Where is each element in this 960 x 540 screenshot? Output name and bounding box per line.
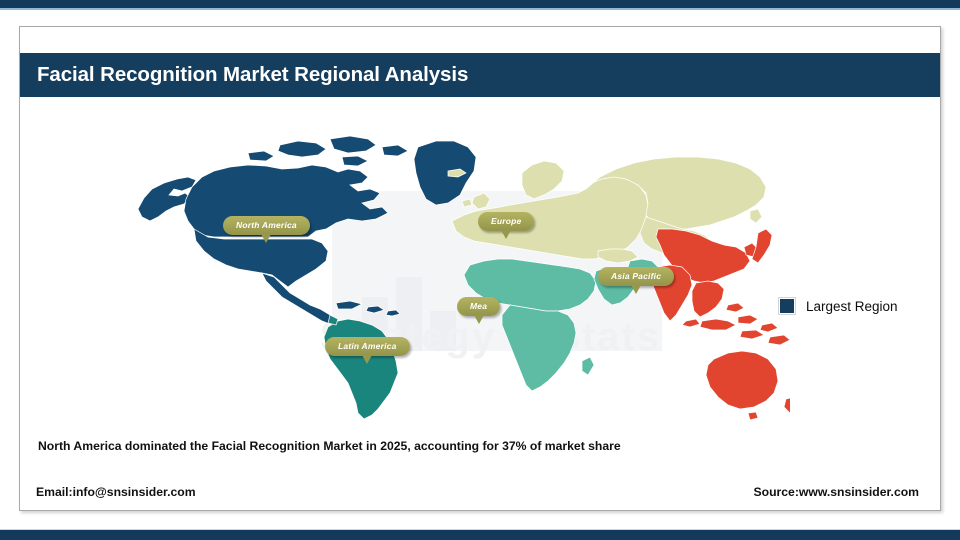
email-text[interactable]: Email:info@snsinsider.com	[36, 485, 196, 499]
legend-label-largest-region: Largest Region	[806, 299, 898, 314]
top-accent-line	[0, 8, 960, 10]
legend-swatch-largest-region	[779, 298, 795, 314]
page-title: Facial Recognition Market Regional Analy…	[37, 63, 468, 87]
content-card: Facial Recognition Market Regional Analy…	[19, 26, 941, 511]
bottom-decorative-bar	[0, 530, 960, 540]
map-label-north-america[interactable]: North America	[223, 216, 310, 235]
map-region-asia-pacific	[652, 229, 790, 420]
map-label-latin-america[interactable]: Latin America	[325, 337, 410, 356]
map-label-asia-pacific[interactable]: Asia Pacific	[598, 267, 674, 286]
slide-root: Facial Recognition Market Regional Analy…	[0, 0, 960, 540]
legend: Largest Region	[779, 298, 898, 314]
header-band: Facial Recognition Market Regional Analy…	[20, 53, 940, 97]
insight-text: North America dominated the Facial Recog…	[38, 439, 621, 453]
map-label-europe[interactable]: Europe	[478, 212, 534, 231]
map-region-latin-america	[324, 315, 398, 419]
map-label-mea[interactable]: Mea	[457, 297, 500, 316]
top-decorative-bar	[0, 0, 960, 8]
world-map	[130, 125, 790, 425]
source-text[interactable]: Source:www.snsinsider.com	[754, 485, 919, 499]
